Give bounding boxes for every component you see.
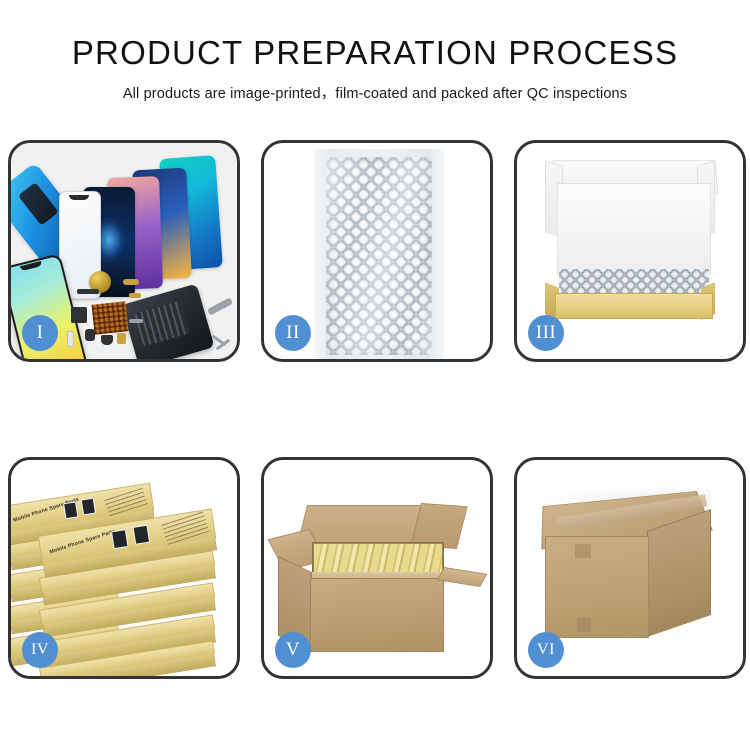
carton-seam-lower	[577, 618, 591, 632]
small-part	[117, 333, 126, 344]
page-header: PRODUCT PREPARATION PROCESS All products…	[0, 0, 750, 103]
step-badge-3: III	[528, 315, 564, 351]
step-card-6: VI	[514, 457, 746, 679]
step-badge-4: IV	[22, 632, 58, 668]
step-image-boxed-stack: Mobile Phone Spare Parts Mobile Phone Sp…	[11, 460, 237, 676]
step-card-1: I	[8, 140, 240, 362]
phone-thumbnail	[133, 525, 151, 545]
phone-thumbnail	[81, 498, 96, 516]
small-part	[123, 279, 139, 285]
chip-grid-part	[92, 301, 129, 334]
step-badge-5: V	[275, 632, 311, 668]
small-part	[129, 293, 141, 298]
carton-front-flap	[437, 567, 488, 587]
small-part	[71, 307, 87, 323]
step-image-carton-loading: V	[264, 460, 490, 676]
bubble-wrap-gloss	[326, 157, 432, 355]
step-image-products-and-spare-parts: I	[11, 143, 237, 359]
kraft-box-label: Mobile Phone Spare Parts	[49, 529, 116, 556]
mailer-box-back-panel	[557, 183, 711, 275]
phone-thumbnail	[63, 501, 78, 519]
small-part	[101, 335, 113, 345]
small-part	[77, 289, 99, 294]
bubble-wrapped-contents	[559, 269, 709, 295]
small-part	[67, 331, 74, 347]
sealed-carton-right-side	[647, 509, 711, 637]
product-preparation-page: PRODUCT PREPARATION PROCESS All products…	[0, 0, 750, 750]
page-subtitle: All products are image-printed，film-coat…	[0, 82, 750, 103]
mailer-box-front-panel	[555, 293, 713, 319]
page-title: PRODUCT PREPARATION PROCESS	[0, 36, 750, 71]
step-card-4: Mobile Phone Spare Parts Mobile Phone Sp…	[8, 457, 240, 679]
step-card-5: V	[261, 457, 493, 679]
sealed-carton-front	[545, 536, 649, 638]
step-image-sealed-carton: VI	[517, 460, 743, 676]
carton-front-panel	[310, 578, 444, 652]
step-image-bubble-wrap-packing: II	[264, 143, 490, 359]
tweezers-part	[207, 297, 233, 315]
step-image-inner-box-packing: III	[517, 143, 743, 359]
step-card-3: III	[514, 140, 746, 362]
step-badge-2: II	[275, 315, 311, 351]
phone-thumbnail	[111, 529, 129, 549]
step-card-2: II	[261, 140, 493, 362]
small-part	[85, 329, 95, 341]
step-badge-1: I	[22, 315, 58, 351]
process-step-grid: I II III	[8, 140, 742, 679]
step-badge-6: VI	[528, 632, 564, 668]
carton-seam-upper	[575, 544, 591, 558]
small-part	[129, 319, 143, 323]
